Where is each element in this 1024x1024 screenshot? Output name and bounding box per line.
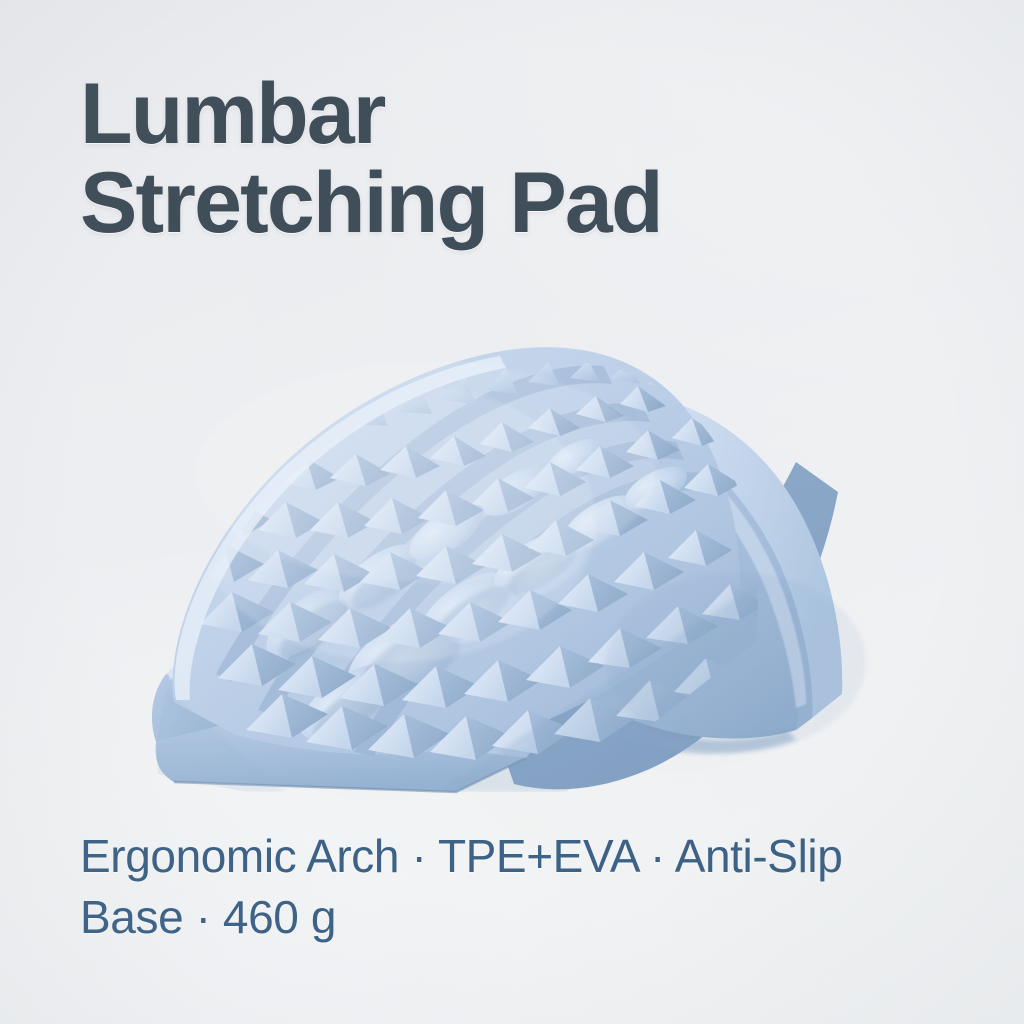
product-stage: [96, 322, 896, 792]
product-feature-line-1: Ergonomic Arch · TPE+EVA · Anti-Slip: [80, 826, 960, 887]
product-title-line-1: Lumbar: [80, 70, 960, 159]
lumbar-stretching-pad-illustration: [96, 322, 896, 792]
product-title: Lumbar Stretching Pad: [80, 70, 960, 249]
product-feature-line-2: Base · 460 g: [80, 887, 960, 948]
product-title-line-2: Stretching Pad: [80, 159, 960, 248]
product-hero-canvas: Lumbar Stretching Pad Ergonomic Arch · T…: [0, 0, 1024, 1024]
product-feature-subtitle: Ergonomic Arch · TPE+EVA · Anti-Slip Bas…: [80, 826, 960, 947]
